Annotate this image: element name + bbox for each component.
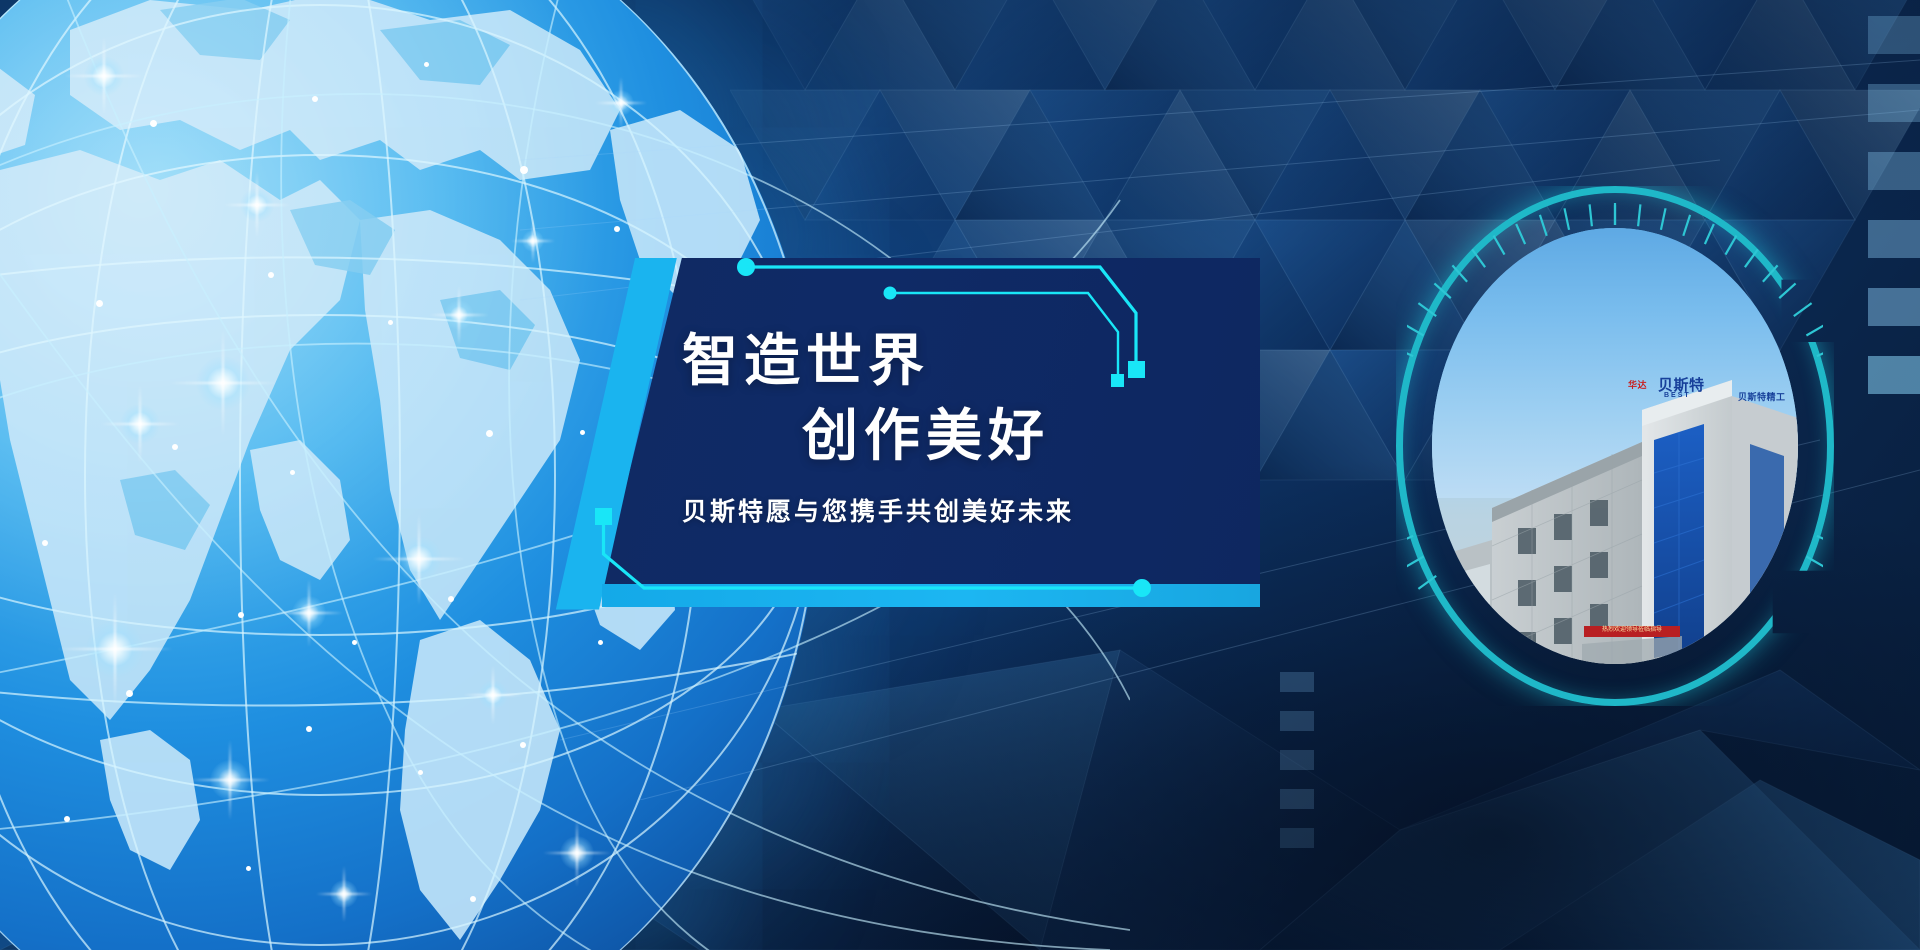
mid-square: [1280, 750, 1314, 770]
mid-square: [1280, 789, 1314, 809]
office-photo-medallion: 华达 贝斯特 BEST 贝斯特精工 热烈欢迎领导莅临指导: [1396, 186, 1834, 706]
edge-square: [1868, 16, 1920, 54]
mid-square: [1280, 672, 1314, 692]
roof-sign-brand-en: BEST: [1664, 392, 1691, 399]
mid-square: [1280, 711, 1314, 731]
edge-square: [1868, 288, 1920, 326]
hero-banner: 华达 贝斯特 BEST 贝斯特精工 热烈欢迎领导莅临指导 智造世界: [0, 0, 1920, 950]
headline-line-2: 创作美好: [802, 391, 1050, 472]
mid-square: [1280, 828, 1314, 848]
edge-square: [1868, 84, 1920, 122]
roof-sign-prefix: 华达: [1628, 378, 1647, 391]
headline-panel: 智造世界 创作美好 贝斯特愿与您携手共创美好未来: [540, 258, 1260, 626]
right-edge-square-stack: [1868, 16, 1920, 424]
edge-square: [1868, 152, 1920, 190]
edge-square: [1868, 356, 1920, 394]
headline-line-1: 智造世界: [682, 316, 930, 397]
mid-square-stack: [1280, 672, 1314, 867]
headline-subtitle: 贝斯特愿与您携手共创美好未来: [682, 492, 1074, 528]
panel-text-block: 智造世界 创作美好 贝斯特愿与您携手共创美好未来: [540, 258, 1260, 626]
photo-building-shapes: [1432, 228, 1798, 664]
entrance-welcome-banner: 热烈欢迎领导莅临指导: [1584, 626, 1680, 637]
roof-sign-secondary: 贝斯特精工: [1738, 390, 1786, 403]
office-building-photo: 华达 贝斯特 BEST 贝斯特精工 热烈欢迎领导莅临指导: [1432, 228, 1798, 664]
edge-square: [1868, 220, 1920, 258]
